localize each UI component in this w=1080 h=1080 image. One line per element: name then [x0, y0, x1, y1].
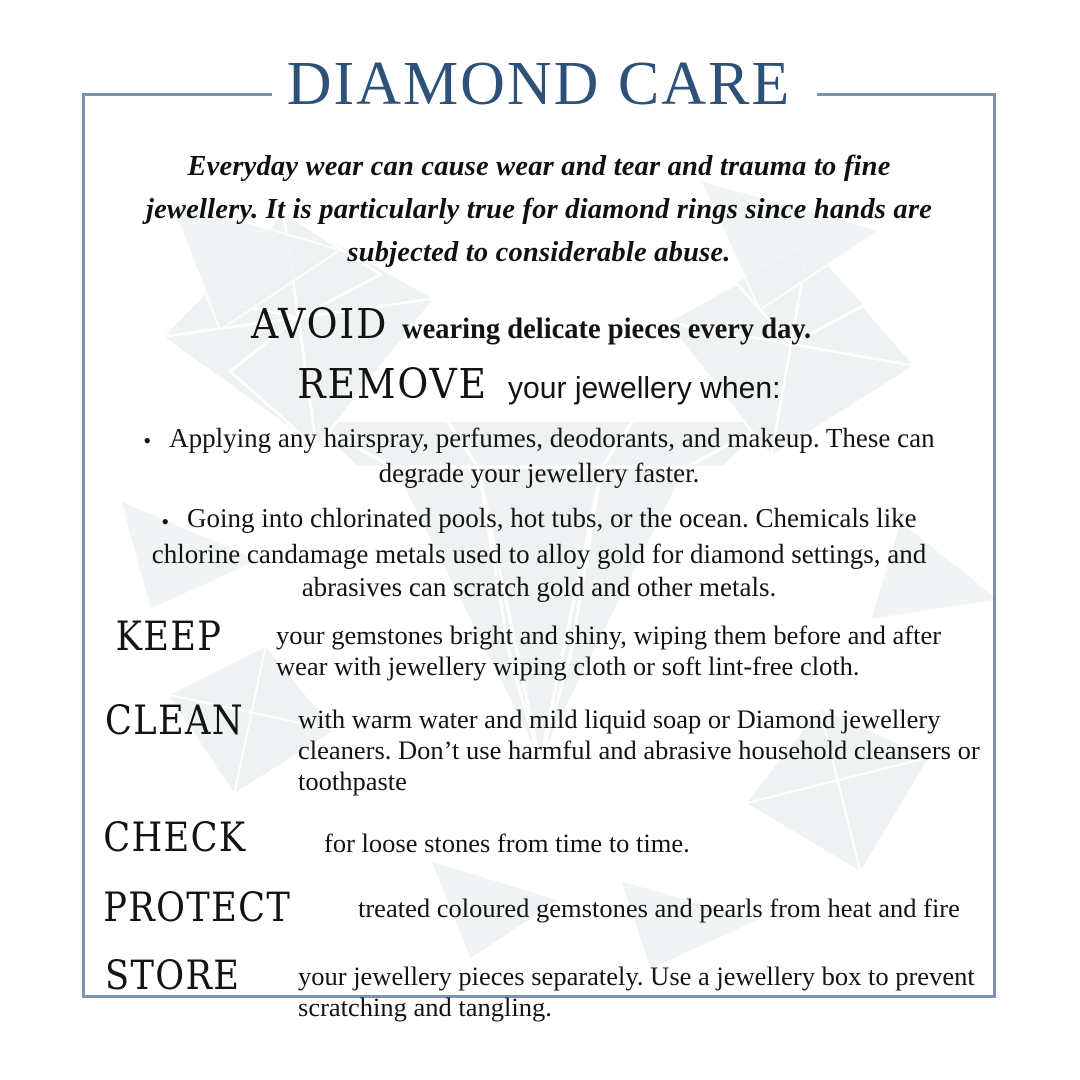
keyword-keep: KEEP: [98, 616, 249, 658]
keyword-store: STORE: [98, 955, 265, 997]
lead-text-remove: your jewellery when:: [508, 370, 780, 406]
keyword-protect: PROTECT: [98, 887, 322, 929]
diamond-care-poster: DIAMOND CARE Everyday wear can cause wea…: [0, 0, 1080, 1080]
care-row-check: CHECK for loose stones from time to time…: [98, 817, 980, 859]
remove-bullet-list: •Applying any hairspray, perfumes, deodo…: [98, 422, 980, 604]
page-title: DIAMOND CARE: [82, 49, 996, 119]
keyword-avoid: AVOID: [251, 300, 388, 348]
list-item-text: Applying any hairspray, perfumes, deodor…: [169, 423, 935, 488]
care-row-keep: KEEP your gemstones bright and shiny, wi…: [98, 616, 980, 682]
bullet-icon: •: [143, 428, 151, 453]
care-instruction-rows: KEEP your gemstones bright and shiny, wi…: [98, 616, 980, 1023]
list-item: •Applying any hairspray, perfumes, deodo…: [98, 422, 980, 490]
care-row-clean: CLEAN with warm water and mild liquid so…: [98, 700, 980, 797]
care-text-keep: your gemstones bright and shiny, wiping …: [270, 616, 980, 682]
bullet-icon: •: [161, 509, 169, 534]
lead-line-avoid: AVOIDwearing delicate pieces every day.: [98, 300, 980, 348]
keyword-check: CHECK: [98, 817, 285, 859]
care-text-check: for loose stones from time to time.: [310, 817, 980, 859]
keyword-clean: CLEAN: [98, 700, 272, 742]
intro-paragraph: Everyday wear can cause wear and tear an…: [98, 93, 980, 274]
lead-line-remove: REMOVEyour jewellery when:: [98, 360, 980, 408]
lead-text-avoid: wearing delicate pieces every day.: [402, 312, 811, 346]
list-item-text: Going into chlorinated pools, hot tubs, …: [152, 503, 927, 601]
keyword-remove: REMOVE: [297, 360, 488, 408]
care-text-clean: with warm water and mild liquid soap or …: [296, 700, 980, 797]
list-item: •Going into chlorinated pools, hot tubs,…: [98, 502, 980, 603]
poster-content: DIAMOND CARE Everyday wear can cause wea…: [82, 93, 996, 998]
care-row-protect: PROTECT treated coloured gemstones and p…: [98, 887, 980, 929]
care-text-store: your jewellery pieces separately. Use a …: [288, 955, 980, 1023]
care-row-store: STORE your jewellery pieces separately. …: [98, 955, 980, 1023]
care-text-protect: treated coloured gemstones and pearls fr…: [352, 887, 980, 924]
